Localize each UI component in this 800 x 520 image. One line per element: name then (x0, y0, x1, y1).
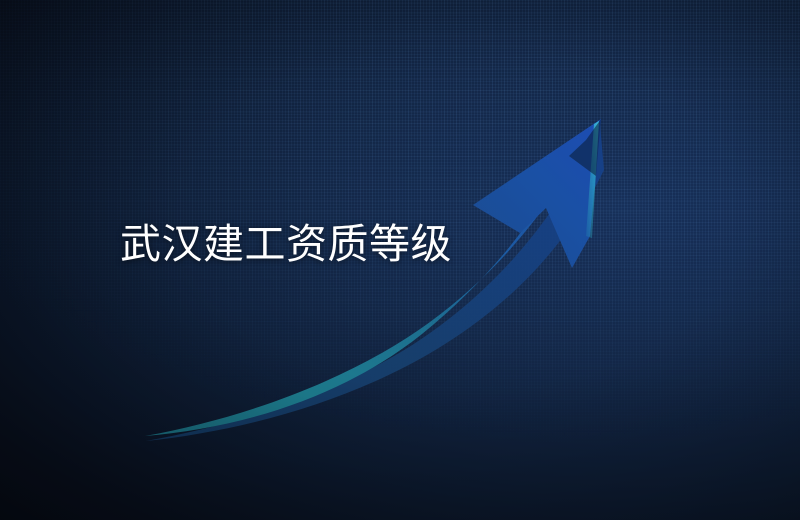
banner-title: 武汉建工资质等级 (120, 219, 452, 269)
banner-canvas: 武汉建工资质等级 (0, 0, 800, 520)
